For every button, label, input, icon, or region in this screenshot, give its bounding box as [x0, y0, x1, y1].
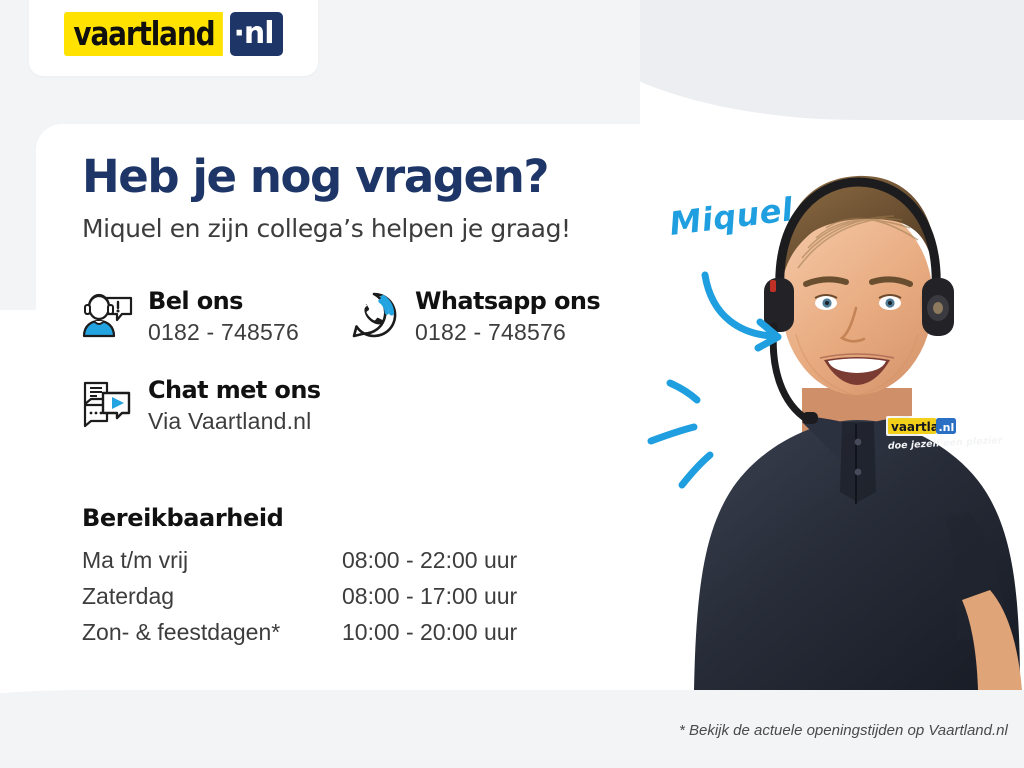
availability-table: Ma t/m vrij 08:00 - 22:00 uur Zaterdag 0… [82, 548, 572, 656]
footnote-text: * Bekijk de actuele openingstijden op Va… [679, 722, 1008, 739]
availability-day: Zaterdag [82, 584, 342, 620]
headset-person-icon [80, 286, 134, 344]
availability-day: Zon- & feestdagen* [82, 620, 342, 656]
availability-time: 10:00 - 20:00 uur [342, 620, 572, 656]
page-title: Heb je nog vragen? [82, 150, 548, 203]
contact-text-chat: Chat met ons Via Vaartland.nl [148, 375, 321, 438]
contact-title-chat: Chat met ons [148, 376, 321, 404]
page-subtitle: Miquel en zijn collega’s helpen je graag… [82, 214, 571, 243]
availability-day: Ma t/m vrij [82, 548, 342, 584]
contact-method-chat[interactable]: Chat met ons Via Vaartland.nl [80, 375, 321, 438]
contact-method-call[interactable]: Bel ons 0182 - 748576 [80, 286, 299, 349]
poster-canvas: vaartland .nl doe jezelf een plezier [0, 0, 1024, 768]
brand-logo[interactable]: vaartland ·nl [64, 12, 282, 56]
contact-text-call: Bel ons 0182 - 748576 [148, 286, 299, 349]
whatsapp-icon [347, 286, 401, 344]
brand-logo-card[interactable]: vaartland ·nl [29, 0, 318, 76]
brand-logo-word: vaartland [64, 12, 223, 56]
brand-logo-dot: · [234, 16, 244, 51]
table-row: Ma t/m vrij 08:00 - 22:00 uur [82, 548, 572, 584]
table-row: Zaterdag 08:00 - 17:00 uur [82, 584, 572, 620]
table-row: Zon- & feestdagen* 10:00 - 20:00 uur [82, 620, 572, 656]
svg-text:.nl: .nl [939, 421, 955, 434]
availability-time: 08:00 - 17:00 uur [342, 584, 572, 620]
brand-logo-tld-text: nl [244, 16, 274, 51]
contact-value-call[interactable]: 0182 - 748576 [148, 315, 299, 349]
contact-text-whatsapp: Whatsapp ons 0182 - 748576 [415, 286, 600, 349]
brand-logo-tld: ·nl [230, 12, 283, 56]
contact-title-call: Bel ons [148, 287, 299, 315]
contact-value-whatsapp[interactable]: 0182 - 748576 [415, 315, 600, 349]
polo-logo: vaartland .nl doe jezelf een plezier [886, 416, 1004, 452]
contact-value-chat[interactable]: Via Vaartland.nl [148, 404, 321, 438]
contact-method-whatsapp[interactable]: Whatsapp ons 0182 - 748576 [347, 286, 600, 349]
availability-time: 08:00 - 22:00 uur [342, 548, 572, 584]
availability-title: Bereikbaarheid [82, 504, 283, 532]
contact-title-whatsapp: Whatsapp ons [415, 287, 600, 315]
chat-bubbles-icon [80, 375, 134, 433]
